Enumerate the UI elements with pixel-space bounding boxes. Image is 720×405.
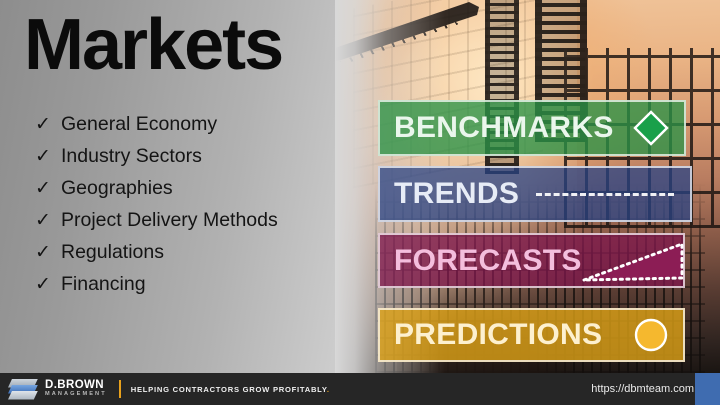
footer-tagline-text: HELPING CONTRACTORS GROW PROFITABLY <box>131 385 327 394</box>
banner-trends: TRENDS <box>378 166 692 222</box>
banner-label: PREDICTIONS <box>394 320 602 350</box>
checkmark-icon: ✓ <box>35 275 50 294</box>
footer-divider <box>119 380 121 398</box>
list-item: ✓ Project Delivery Methods <box>35 209 365 232</box>
presentation-slide: Markets ✓ General Economy ✓ Industry Sec… <box>0 0 720 405</box>
list-item: ✓ Financing <box>35 273 365 296</box>
banner-predictions: PREDICTIONS <box>378 308 685 362</box>
dbrown-logo-icon <box>8 379 38 400</box>
page-title: Markets <box>24 9 282 82</box>
brand-name: D.BROWN <box>45 380 107 392</box>
banner-forecasts: FORECASTS <box>378 233 685 288</box>
bullet-list: ✓ General Economy ✓ Industry Sectors ✓ G… <box>35 113 365 305</box>
banner-bar-group: BENCHMARKS TRENDS FORECASTS PREDICTIONS <box>378 0 698 373</box>
list-item: ✓ Industry Sectors <box>35 145 365 168</box>
diamond-icon <box>632 109 670 147</box>
dashed-line-icon <box>536 193 676 196</box>
list-item-label: General Economy <box>61 113 217 136</box>
banner-benchmarks: BENCHMARKS <box>378 100 686 156</box>
list-item-label: Financing <box>61 273 146 296</box>
footer-tagline-dot: . <box>327 385 330 394</box>
checkmark-icon: ✓ <box>35 179 50 198</box>
checkmark-icon: ✓ <box>35 147 50 166</box>
filled-circle-icon <box>633 317 669 353</box>
list-item-label: Regulations <box>61 241 164 264</box>
banner-label: BENCHMARKS <box>394 113 614 143</box>
brand-subtitle: MANAGEMENT <box>45 392 107 398</box>
list-item: ✓ Regulations <box>35 241 365 264</box>
dotted-arrow-icon <box>582 238 688 284</box>
banner-label: TRENDS <box>394 179 519 209</box>
banner-label: FORECASTS <box>394 246 582 276</box>
checkmark-icon: ✓ <box>35 211 50 230</box>
checkmark-icon: ✓ <box>35 115 50 134</box>
checkmark-icon: ✓ <box>35 243 50 262</box>
footer-corner-accent <box>695 373 720 405</box>
footer-url[interactable]: https://dbmteam.com <box>591 383 694 395</box>
brand-wordmark: D.BROWN MANAGEMENT <box>45 380 107 398</box>
list-item-label: Geographies <box>61 177 173 200</box>
list-item-label: Project Delivery Methods <box>61 209 278 232</box>
footer-bar: D.BROWN MANAGEMENT HELPING CONTRACTORS G… <box>0 373 720 405</box>
list-item-label: Industry Sectors <box>61 145 202 168</box>
footer-tagline: HELPING CONTRACTORS GROW PROFITABLY. <box>131 385 330 394</box>
list-item: ✓ General Economy <box>35 113 365 136</box>
list-item: ✓ Geographies <box>35 177 365 200</box>
